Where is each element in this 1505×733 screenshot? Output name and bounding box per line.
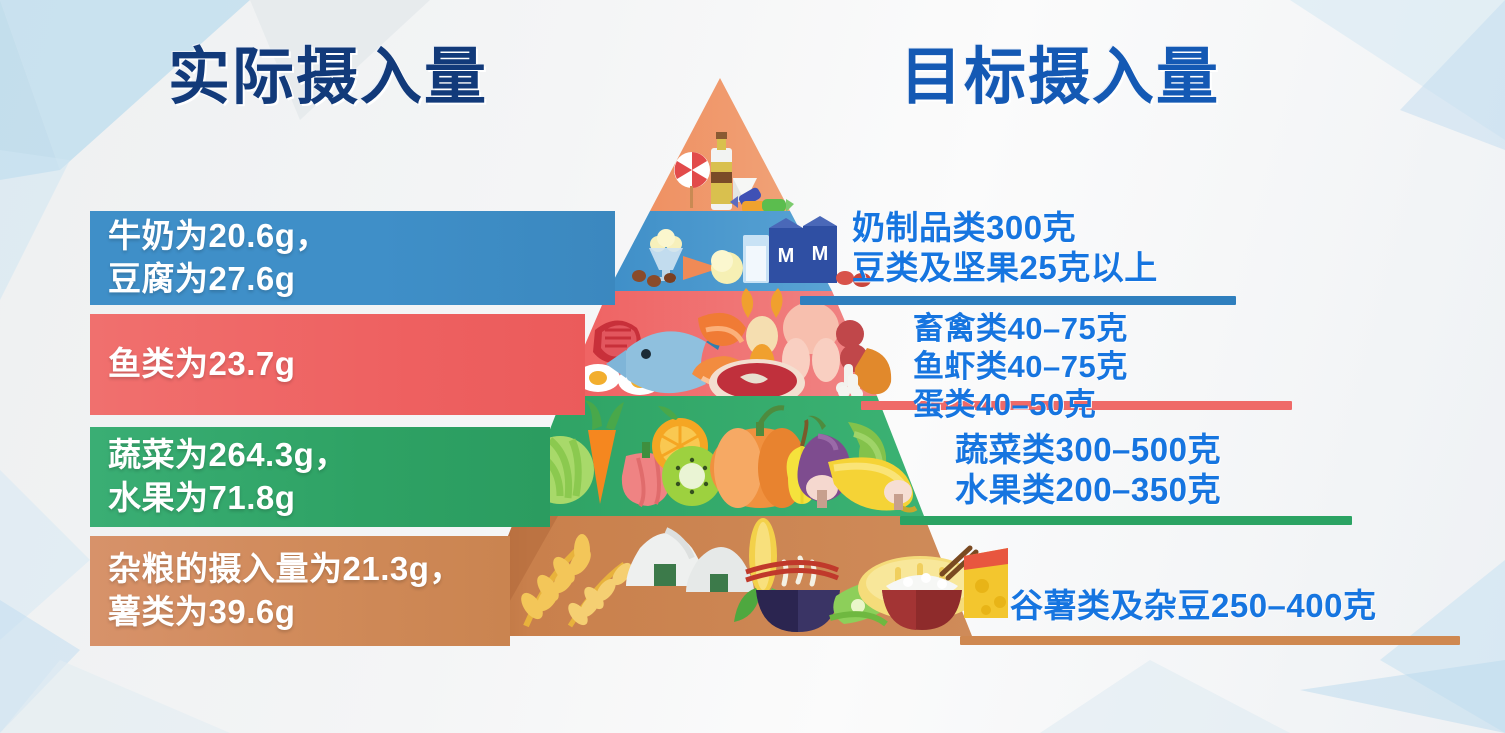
target-intake-label-grains: 谷薯类及杂豆250–400克 — [1010, 586, 1376, 626]
target-intake-label-meat: 畜禽类40–75克 鱼虾类40–75克 蛋类40–50克 — [913, 310, 1128, 423]
actual-dairy-line-1: 牛奶为20.6g， — [108, 215, 615, 258]
actual-intake-band-dairy: 牛奶为20.6g， 豆腐为27.6g — [90, 211, 615, 305]
target-intake-label-vegetables: 蔬菜类300–500克 水果类200–350克 — [955, 430, 1221, 511]
milk-carton-letter: M — [778, 245, 795, 267]
pyramid-tier-meat — [563, 288, 891, 407]
target-dairy-line-1: 奶制品类300克 — [852, 208, 1158, 248]
cheese-icon — [964, 548, 1008, 618]
actual-grain-line-1: 杂粮的摄入量为21.3g， — [108, 548, 510, 591]
actual-meat-line-1: 鱼类为23.7g — [108, 343, 585, 386]
target-veg-line-1: 蔬菜类300–500克 — [955, 430, 1221, 470]
milk-carton-icon: M — [769, 218, 803, 283]
actual-grain-line-2: 薯类为39.6g — [108, 591, 510, 634]
milk-carton-letter: M — [812, 243, 829, 265]
actual-dairy-line-2: 豆腐为27.6g — [108, 258, 615, 301]
target-meat-line-3: 蛋类40–50克 — [913, 386, 1128, 424]
pyramid-tier-dairy: M M — [608, 211, 871, 291]
target-grain-line-1: 谷薯类及杂豆250–400克 — [1010, 586, 1376, 626]
actual-veg-line-2: 水果为71.8g — [108, 477, 550, 520]
milk-carton-icon: M — [803, 216, 837, 283]
pyramid-tier-grains — [468, 516, 1008, 636]
target-veg-line-2: 水果类200–350克 — [955, 470, 1221, 510]
actual-intake-band-vegetables: 蔬菜为264.3g， 水果为71.8g — [90, 427, 550, 527]
pyramid-tier-apex — [650, 78, 794, 213]
actual-intake-band-meat: 鱼类为23.7g — [90, 314, 585, 415]
target-meat-line-1: 畜禽类40–75克 — [913, 310, 1128, 348]
target-meat-line-2: 鱼虾类40–75克 — [913, 348, 1128, 386]
actual-veg-line-1: 蔬菜为264.3g， — [108, 434, 550, 477]
actual-intake-band-grains: 杂粮的摄入量为21.3g， 薯类为39.6g — [90, 536, 510, 646]
target-intake-label-dairy: 奶制品类300克 豆类及坚果25克以上 — [852, 208, 1158, 289]
tier-bar-vegetables — [900, 516, 1352, 525]
milk-glass-icon — [743, 235, 769, 283]
infographic-canvas: 实际摄入量 目标摄入量 — [0, 0, 1505, 733]
tier-bar-dairy — [800, 296, 1236, 305]
tier-bar-grains — [960, 636, 1460, 645]
target-dairy-line-2: 豆类及坚果25克以上 — [852, 248, 1158, 288]
